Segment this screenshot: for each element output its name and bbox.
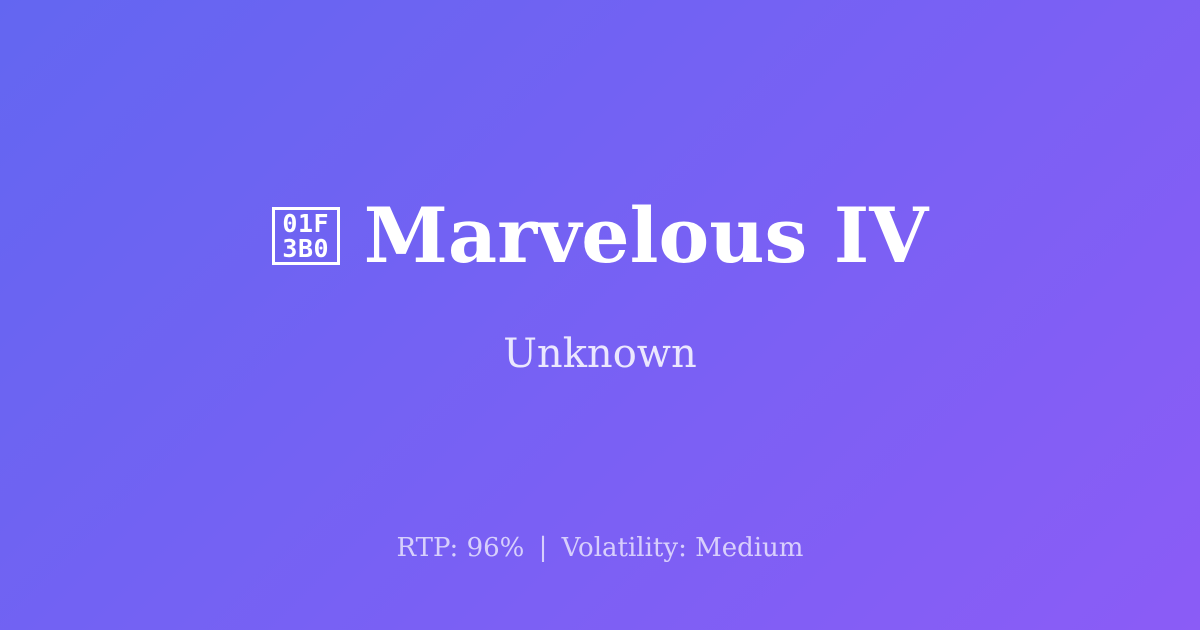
slot-machine-icon: 01F 3B0	[272, 207, 340, 265]
volatility-label: Volatility:	[562, 533, 687, 563]
game-meta: RTP: 96% | Volatility: Medium	[0, 535, 1200, 561]
meta-separator: |	[533, 533, 554, 563]
page-title: Marvelous IV	[364, 198, 929, 274]
volatility-value: Medium	[695, 533, 803, 563]
rtp-value: 96%	[467, 533, 525, 563]
title-row: 01F 3B0 Marvelous IV	[272, 198, 929, 274]
rtp-label: RTP:	[397, 533, 459, 563]
tofu-codepoint-high: 01F	[282, 211, 329, 236]
og-share-card: 01F 3B0 Marvelous IV Unknown RTP: 96% | …	[0, 0, 1200, 630]
tofu-codepoint-low: 3B0	[282, 236, 329, 261]
game-provider: Unknown	[503, 334, 697, 374]
